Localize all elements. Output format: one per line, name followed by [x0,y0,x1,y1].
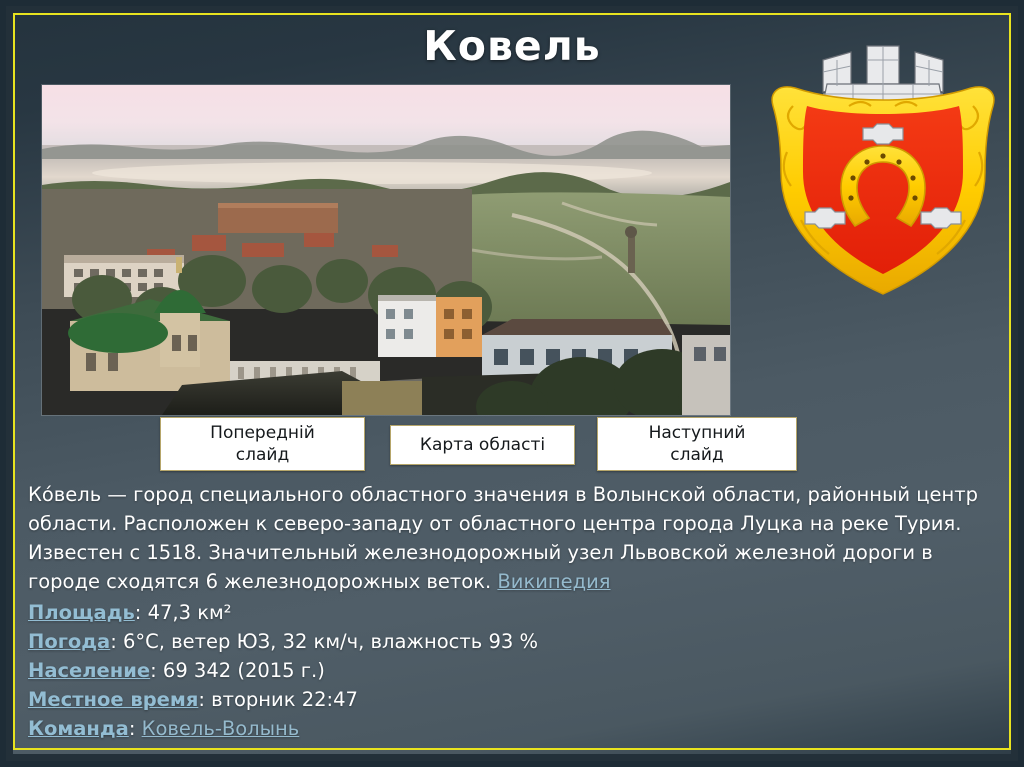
fact-separator: : [129,717,142,740]
fact-label-population[interactable]: Население [28,659,150,682]
fact-value-population: 69 342 (2015 г.) [163,659,325,682]
fact-row: Местное время: вторник 22:47 [28,685,996,714]
fact-label-team[interactable]: Команда [28,717,129,740]
region-map-button[interactable]: Карта області [390,425,575,465]
fact-row: Площадь: 47,3 км² [28,598,996,627]
city-info-block: Ко́вель — город специального областного … [28,480,996,743]
fact-label-area[interactable]: Площадь [28,601,135,624]
fact-value-area: 47,3 км² [148,601,232,624]
next-slide-label-line1: Наступний [649,423,746,443]
page-title: Ковель [0,22,1024,70]
fact-list: Площадь: 47,3 км² Погода: 6°C, ветер ЮЗ,… [28,598,996,743]
fact-row: Население: 69 342 (2015 г.) [28,656,996,685]
next-slide-label-line2: слайд [670,445,723,465]
kovel-aerial-photo [42,85,730,415]
fact-label-weather[interactable]: Погода [28,630,110,653]
fact-separator: : [110,630,123,653]
fact-separator: : [198,688,211,711]
wikipedia-link[interactable]: Википедия [497,570,610,593]
next-slide-button[interactable]: Наступний слайд [597,417,797,471]
prev-slide-button[interactable]: Попередній слайд [160,417,365,471]
fact-value-team[interactable]: Ковель-Волынь [142,717,300,740]
fact-separator: : [135,601,148,624]
city-description: Ко́вель — город специального областного … [28,480,996,596]
prev-slide-label-line2: слайд [236,445,289,465]
prev-slide-label-line1: Попередній [210,423,315,443]
fact-value-local-time: вторник 22:47 [211,688,358,711]
region-map-label: Карта області [420,434,545,456]
fact-separator: : [150,659,163,682]
fact-row: Команда: Ковель-Волынь [28,714,996,743]
fact-row: Погода: 6°C, ветер ЮЗ, 32 км/ч, влажност… [28,627,996,656]
presentation-slide: Ковель Попередній слайд Карта області На… [0,0,1024,767]
fact-value-weather: 6°C, ветер ЮЗ, 32 км/ч, влажность 93 % [123,630,538,653]
fact-label-local-time[interactable]: Местное время [28,688,198,711]
